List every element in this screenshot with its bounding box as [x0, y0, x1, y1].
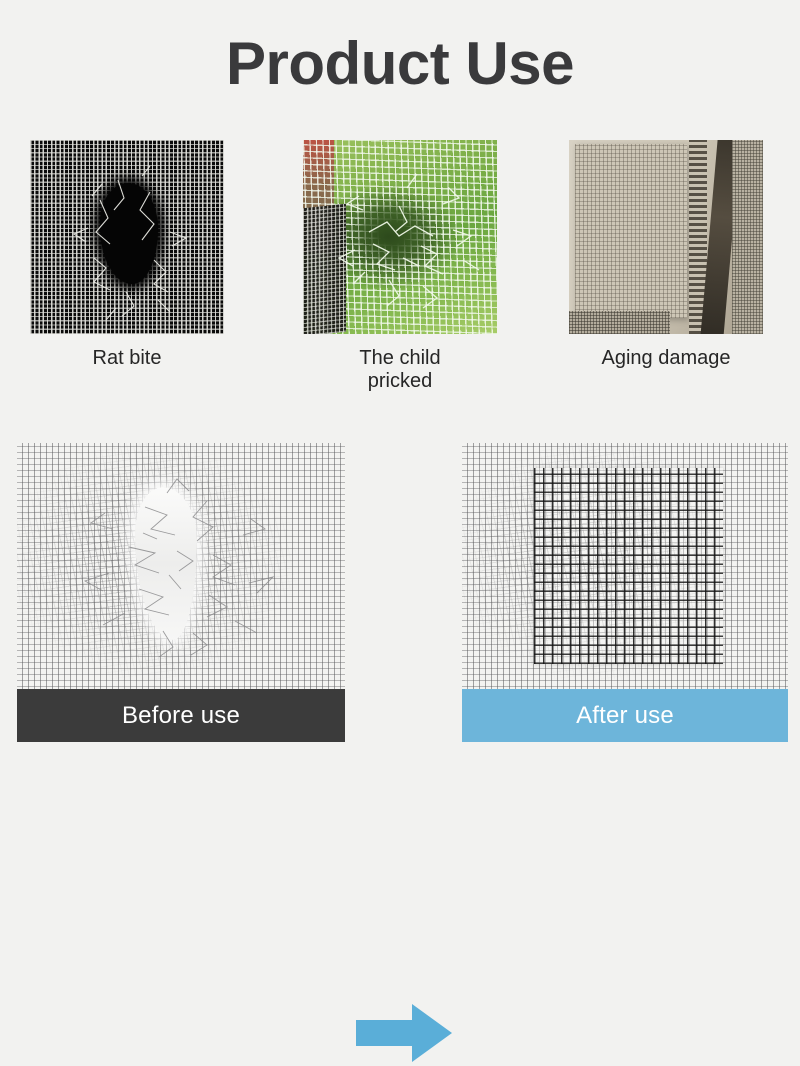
aged-bottom-mesh [569, 311, 670, 334]
before-after-comparison: Before use After use [0, 443, 800, 743]
comparison-card-after: After use [462, 443, 788, 742]
damage-caption-rat-bite: Rat bite [30, 347, 224, 370]
damage-photo-rat-bite [30, 140, 224, 334]
damage-photo-aging-damage [569, 140, 763, 334]
damage-examples-row: Rat bite [0, 140, 800, 410]
damage-caption-child-pricked: The child pricked [303, 347, 497, 393]
damage-photo-child-pricked [303, 140, 497, 334]
aged-screen-panel [575, 144, 688, 319]
comparison-photo-before [17, 443, 345, 689]
damage-caption-line-1: The child [303, 347, 497, 370]
damage-card-aging-damage: Aging damage [569, 140, 763, 370]
damage-card-rat-bite: Rat bite [30, 140, 224, 370]
repair-patch-icon [534, 468, 723, 665]
comparison-label-after: After use [462, 689, 788, 742]
comparison-label-before: Before use [17, 689, 345, 742]
damage-card-child-pricked: The child pricked [303, 140, 497, 393]
page-title: Product Use [0, 32, 800, 95]
comparison-card-before: Before use [17, 443, 345, 742]
damage-caption-aging-damage: Aging damage [569, 347, 763, 370]
damage-caption-line-2: pricked [303, 370, 497, 393]
arrow-right-icon [356, 1000, 452, 1066]
comparison-photo-after [462, 443, 788, 689]
aged-right-mesh [732, 140, 763, 334]
mesh-dark-strip [303, 204, 346, 334]
